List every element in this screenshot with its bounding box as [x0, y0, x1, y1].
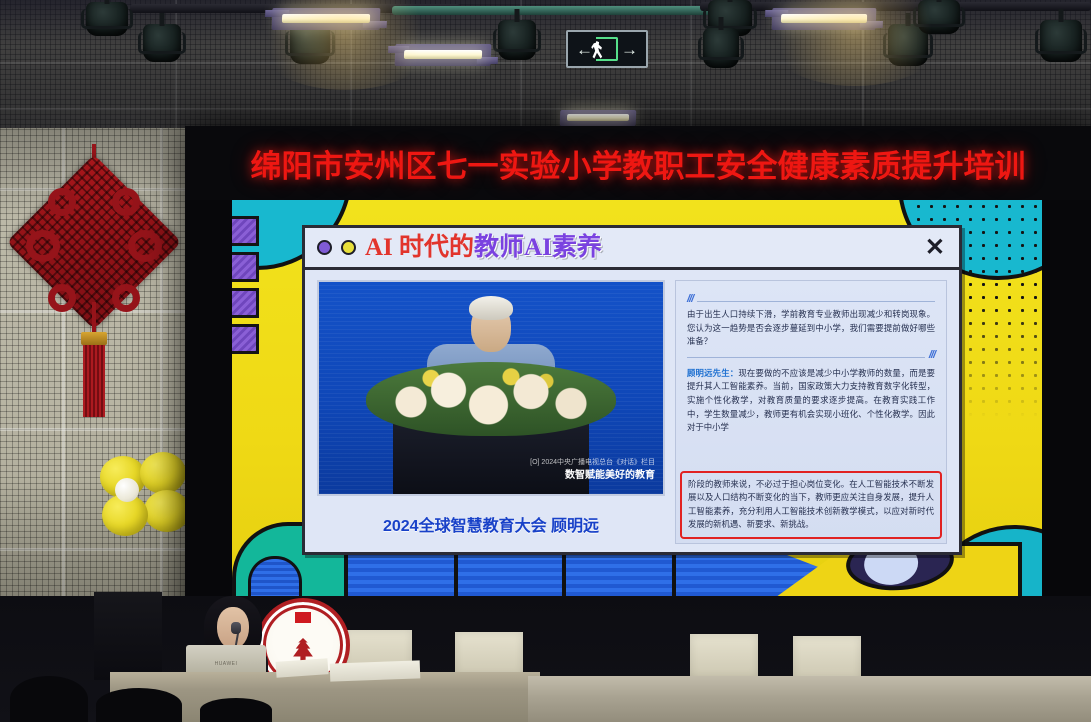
dialog-body: [O] 2024中央广播电视总台《对话》栏目 数智赋能美好的教育 2024全球智…	[305, 270, 959, 552]
exit-arrow-left-icon: ←	[576, 41, 593, 58]
photo-column: [O] 2024中央广播电视总台《对话》栏目 数智赋能美好的教育 2024全球智…	[317, 280, 665, 544]
purple-strip-decoration	[232, 216, 259, 360]
text-column: /// 由于出生人口持续下滑，学前教育专业教师出现减少和转岗现象。您认为这一趋势…	[675, 280, 947, 544]
dialog-title-red: AI 时代的	[365, 234, 474, 261]
dialog-title-bar: AI 时代的教师AI素养 ✕	[305, 228, 959, 270]
conference-photo: [O] 2024中央广播电视总台《对话》栏目 数智赋能美好的教育	[317, 280, 665, 496]
slash-mark: ///	[929, 349, 935, 361]
auditorium-scene: ← →	[0, 0, 1091, 722]
paper-sheet	[330, 660, 421, 681]
photo-watermark: [O] 2024中央广播电视总台《对话》栏目 数智赋能美好的教育	[530, 457, 655, 484]
audience-silhouette	[10, 676, 88, 722]
close-icon[interactable]: ✕	[921, 236, 949, 260]
yellow-dot-icon	[341, 240, 356, 255]
photo-watermark-top: [O] 2024中央广播电视总台《对话》栏目	[530, 459, 655, 466]
slash-mark: ///	[687, 293, 693, 305]
slide-dialog-window: AI 时代的教师AI素养 ✕ [O] 2024中央广播电视	[302, 225, 962, 555]
question-text: 由于出生人口持续下滑，学前教育专业教师出现减少和转岗现象。您认为这一趋势是否会逐…	[687, 308, 935, 349]
speaker-cabinet	[94, 592, 162, 680]
dialog-title: AI 时代的教师AI素养	[365, 235, 602, 260]
stage-light	[918, 0, 960, 34]
stage-light	[498, 20, 536, 60]
chinese-knot-decoration	[30, 144, 158, 444]
chair	[793, 636, 861, 680]
led-banner: 绵阳市安州区七一实验小学教职工安全健康素质提升培训	[185, 126, 1091, 200]
photo-watermark-main: 数智赋能美好的教育	[530, 468, 655, 484]
exit-sign: ← →	[566, 30, 648, 68]
audience-silhouette	[200, 698, 272, 722]
photo-caption: 2024全球智慧教育大会 顾明远	[317, 512, 665, 536]
truss-bar	[700, 2, 1091, 11]
stage-light	[143, 24, 181, 62]
purple-dot-icon	[317, 240, 332, 255]
laptop-brand-label: HUAWEI	[215, 661, 238, 667]
banner-title: 绵阳市安州区七一实验小学教职工安全健康素质提升培训	[251, 141, 1026, 186]
led-display-screen: 绵阳市安州区七一实验小学教职工安全健康素质提升培训	[185, 126, 1091, 636]
slash-divider-top: ///	[687, 293, 935, 305]
highlighted-text-box: 阶段的教师来说，不必过于担心岗位变化。在人工智能技术不断发展以及人口结构不断变化…	[680, 471, 942, 539]
stage-light	[703, 28, 739, 68]
panel-light	[395, 44, 492, 66]
panel-light	[272, 8, 381, 30]
stage-light	[1040, 20, 1082, 62]
exit-door-icon	[596, 37, 618, 61]
truss-bar-green	[392, 6, 722, 15]
ceiling-panels: ← →	[0, 0, 1091, 130]
panel-light	[560, 110, 637, 126]
panel-light	[772, 8, 877, 30]
slash-divider-bottom: ///	[687, 349, 935, 361]
dialog-title-purple: 教师AI素养	[474, 234, 602, 261]
presentation-slide: AI 时代的教师AI素养 ✕ [O] 2024中央广播电视	[232, 200, 1042, 600]
balloon-flower-decoration	[88, 452, 194, 544]
panel-table	[528, 676, 1091, 722]
chair	[690, 634, 758, 678]
flag-icon	[295, 612, 311, 623]
answer-text: 顾明远先生：现在要做的不应该是减少中小学教师的数量，而是要提升其人工智能素养。当…	[687, 367, 935, 435]
stage-light	[86, 2, 128, 36]
exit-arrow-right-icon: →	[621, 41, 638, 58]
chair	[455, 632, 523, 676]
microphone-icon	[231, 622, 241, 634]
audience-silhouette	[96, 688, 182, 722]
answer-speaker-name: 顾明远先生：	[687, 368, 738, 378]
